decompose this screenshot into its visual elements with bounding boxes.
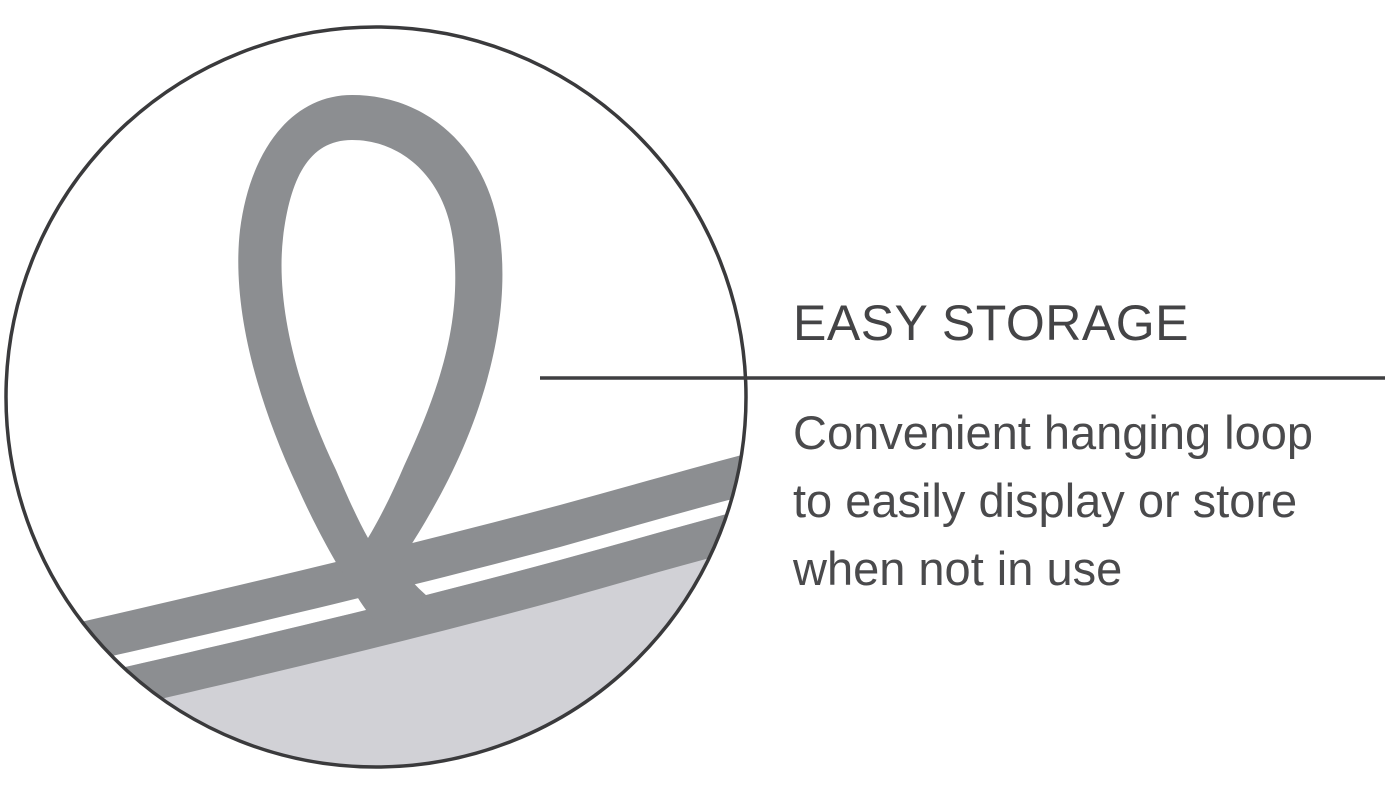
feature-description: Convenient hanging loop to easily displa… (793, 399, 1373, 603)
feature-title: EASY STORAGE (793, 296, 1189, 350)
feature-description-line: when not in use (793, 535, 1373, 603)
feature-description-line: Convenient hanging loop (793, 399, 1373, 467)
feature-text-block: EASY STORAGE Convenient hanging loop to … (793, 0, 1387, 805)
feature-callout-figure: EASY STORAGE Convenient hanging loop to … (0, 0, 1387, 805)
feature-description-line: to easily display or store (793, 467, 1373, 535)
